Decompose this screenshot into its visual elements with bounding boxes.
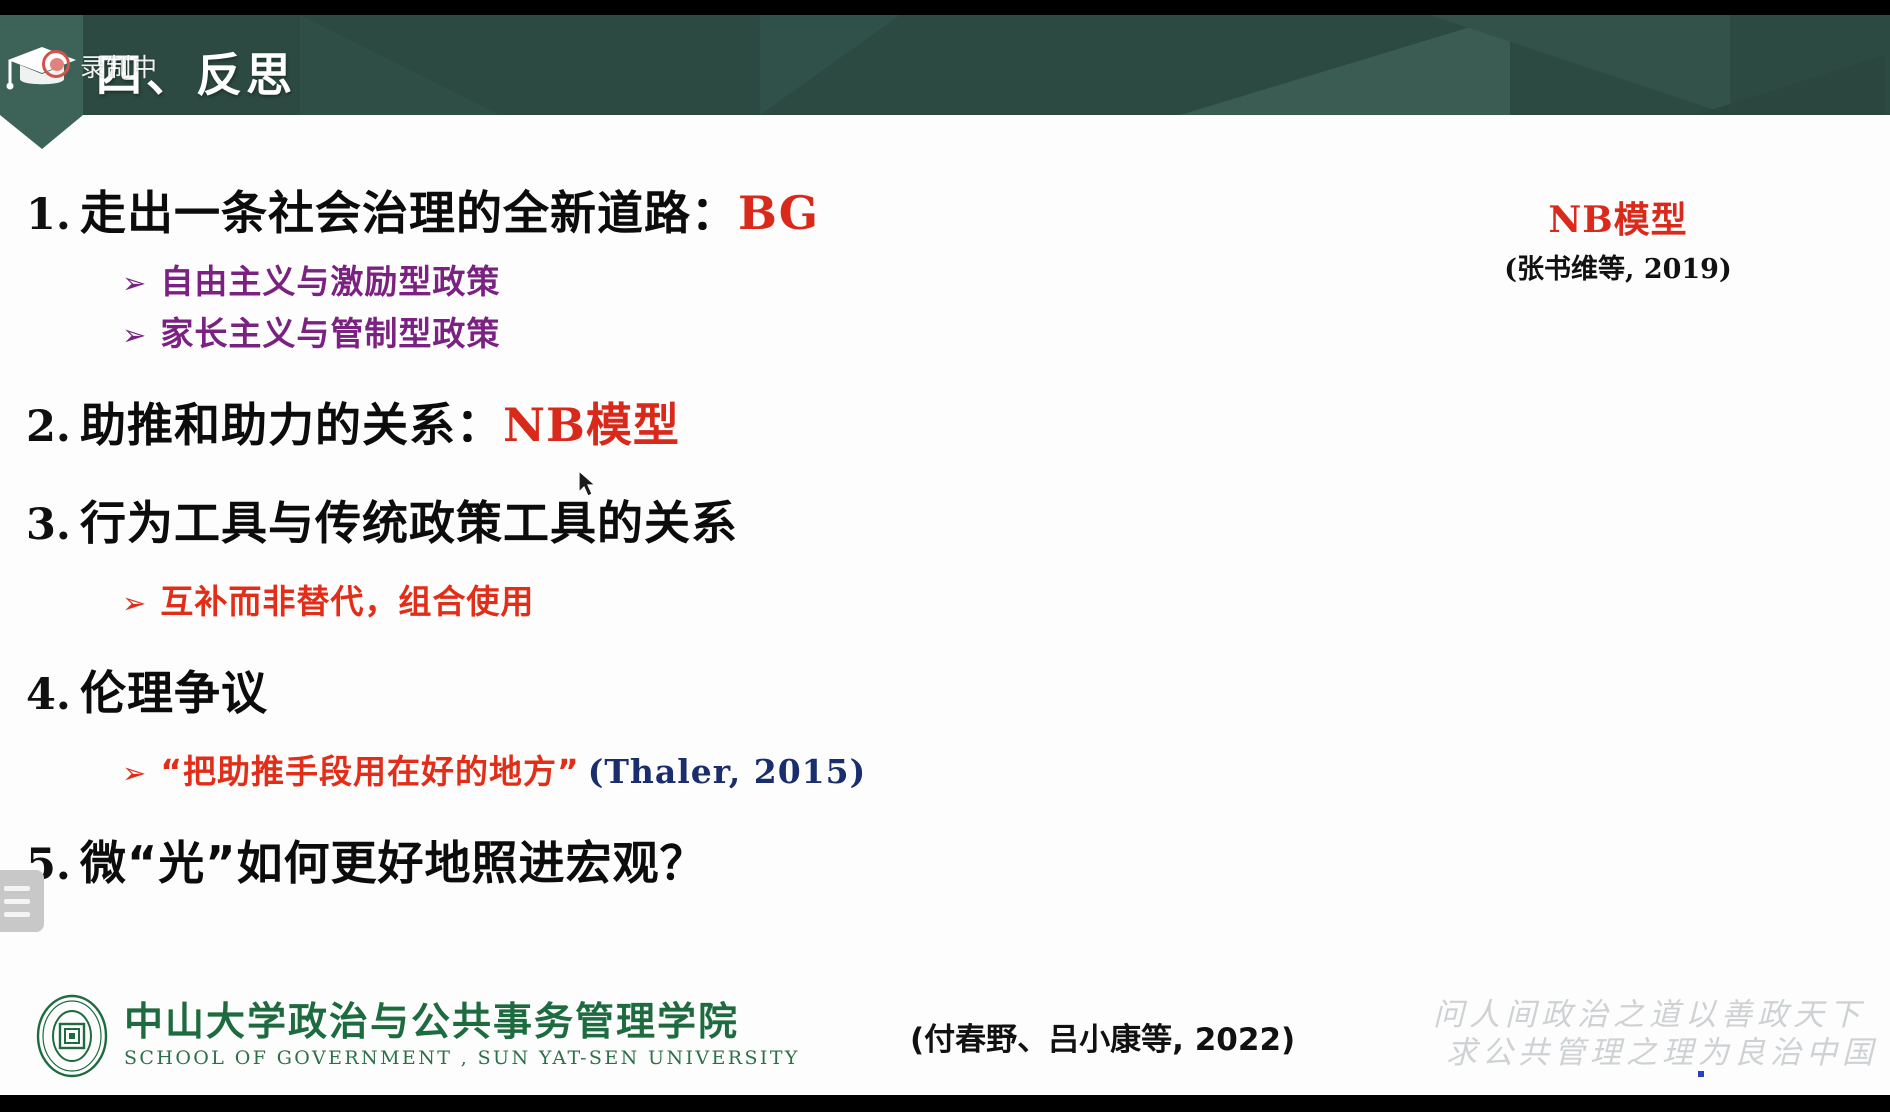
- sub-item-label: “把助推手段用在好的地方”: [160, 745, 579, 793]
- arrow-bullet-icon: ➢: [122, 759, 146, 788]
- sub-item: ➢ “把助推手段用在好的地方” (Thaler, 2015): [122, 745, 1226, 793]
- item-highlight: BG: [738, 186, 819, 240]
- item-text-main: 走出一条社会治理的全新道路：: [80, 186, 738, 240]
- list-panel-icon[interactable]: [0, 870, 44, 932]
- header-facet-shape: [300, 15, 500, 115]
- arrow-bullet-icon: ➢: [122, 321, 146, 350]
- item-number: 1.: [26, 190, 80, 240]
- reflection-list: 1. 走出一条社会治理的全新道路：BG ➢ 自由主义与激励型政策 ➢ 家长主义与…: [26, 177, 1226, 895]
- item-text-main: 伦理争议: [80, 666, 268, 720]
- item-number: 3.: [26, 500, 80, 550]
- list-item: 2. 助推和助力的关系：NB模型: [26, 389, 1226, 455]
- item-text: 伦理争议: [80, 657, 268, 723]
- school-name-en: SCHOOL OF GOVERNMENT , SUN YAT-SEN UNIVE…: [124, 1049, 800, 1069]
- arrow-bullet-icon: ➢: [122, 269, 146, 298]
- list-line: [4, 899, 30, 904]
- item-text: 走出一条社会治理的全新道路：BG: [80, 177, 819, 243]
- list-line: [4, 886, 30, 891]
- sub-item-label: 自由主义与激励型政策: [160, 255, 500, 303]
- list-item: 1. 走出一条社会治理的全新道路：BG: [26, 177, 1226, 243]
- item-number: 4.: [26, 670, 80, 720]
- item-text: 微“光”如何更好地照进宏观？: [80, 827, 706, 893]
- university-seal-icon: [34, 993, 110, 1079]
- header-facet-shape: [760, 15, 900, 115]
- slide-page: 录制中 四、反思 NB模型 (张书维等, 2019) 1. 走出一条社会治理的全…: [0, 15, 1890, 1095]
- item-text: 行为工具与传统政策工具的关系: [80, 487, 738, 553]
- nb-model-label: NB模型: [1408, 201, 1828, 241]
- recording-label: 录制中: [80, 48, 158, 84]
- header-facet-shape: [1695, 55, 1885, 115]
- item-text-main: 微“光”如何更好地照进宏观？: [80, 836, 706, 890]
- list-line: [4, 912, 30, 917]
- item-text: 助推和助力的关系：NB模型: [80, 389, 680, 455]
- nb-model-citation: (张书维等, 2019): [1408, 247, 1828, 286]
- list-item: 5. 微“光”如何更好地照进宏观？: [26, 827, 1226, 893]
- sub-item: ➢ 家长主义与管制型政策: [122, 307, 1226, 355]
- calligraphy-line-2: 求公共管理之理为良治中国: [1446, 1034, 1878, 1073]
- top-right-annotation: NB模型 (张书维等, 2019): [1408, 201, 1828, 286]
- calligraphy-line-1: 问人间政治之道以善政天下: [1420, 996, 1878, 1035]
- list-item: 3. 行为工具与传统政策工具的关系: [26, 487, 1226, 553]
- arrow-bullet-icon: ➢: [122, 589, 146, 618]
- header-facet-shape: [1430, 15, 1730, 115]
- item-text-main: 行为工具与传统政策工具的关系: [80, 496, 738, 550]
- slide-header-banner: 录制中 四、反思: [0, 15, 1890, 115]
- header-shield-point: [0, 115, 83, 149]
- item-highlight: NB模型: [503, 398, 680, 452]
- mouse-pointer-icon: [578, 470, 600, 500]
- sub-item: ➢ 自由主义与激励型政策: [122, 255, 1226, 303]
- sub-item: ➢ 互补而非替代，组合使用: [122, 575, 1226, 623]
- school-name-cn: 中山大学政治与公共事务管理学院: [124, 1003, 800, 1044]
- school-logo: 中山大学政治与公共事务管理学院 SCHOOL OF GOVERNMENT , S…: [34, 993, 800, 1079]
- list-item: 4. 伦理争议: [26, 657, 1226, 723]
- slide-content: NB模型 (张书维等, 2019) 1. 走出一条社会治理的全新道路：BG ➢ …: [0, 115, 1890, 1095]
- sub-item-label: 互补而非替代，组合使用: [160, 575, 534, 623]
- item-number: 2.: [26, 402, 80, 452]
- sub-item-citation: (Thaler, 2015): [588, 752, 867, 791]
- sub-item-label: 家长主义与管制型政策: [160, 307, 500, 355]
- school-name-block: 中山大学政治与公共事务管理学院 SCHOOL OF GOVERNMENT , S…: [124, 1003, 800, 1069]
- record-dot-fill-icon: [50, 58, 64, 71]
- blue-dot-marker: [1698, 1071, 1704, 1077]
- item-text-main: 助推和助力的关系：: [80, 398, 503, 452]
- footer-citation: (付春野、吕小康等, 2022): [910, 1014, 1295, 1059]
- calligraphy-watermark: 问人间政治之道以善政天下 求公共管理之理为良治中国: [1420, 996, 1878, 1074]
- slide-canvas: 录制中 四、反思 NB模型 (张书维等, 2019) 1. 走出一条社会治理的全…: [0, 0, 1890, 1112]
- slide-footer: 中山大学政治与公共事务管理学院 SCHOOL OF GOVERNMENT , S…: [0, 955, 1890, 1095]
